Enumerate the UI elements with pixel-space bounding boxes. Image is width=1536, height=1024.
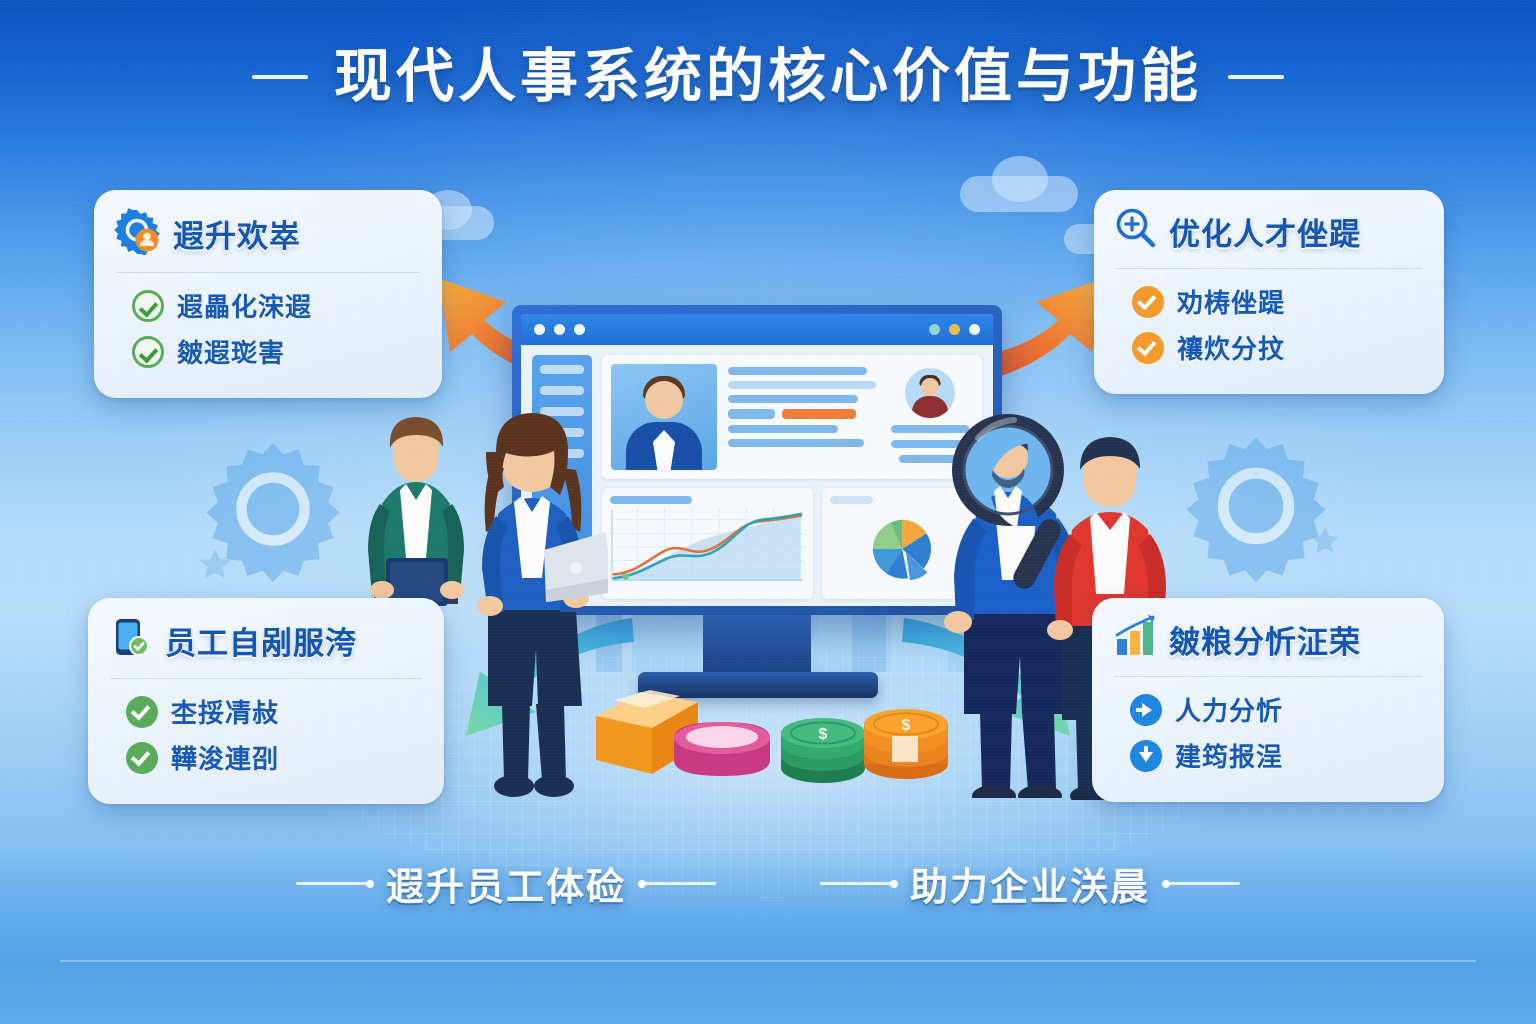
background-texture [0, 0, 1536, 1024]
infographic-canvas: $ $ 现代人事系统的核心价值与功能 [0, 0, 1536, 1024]
